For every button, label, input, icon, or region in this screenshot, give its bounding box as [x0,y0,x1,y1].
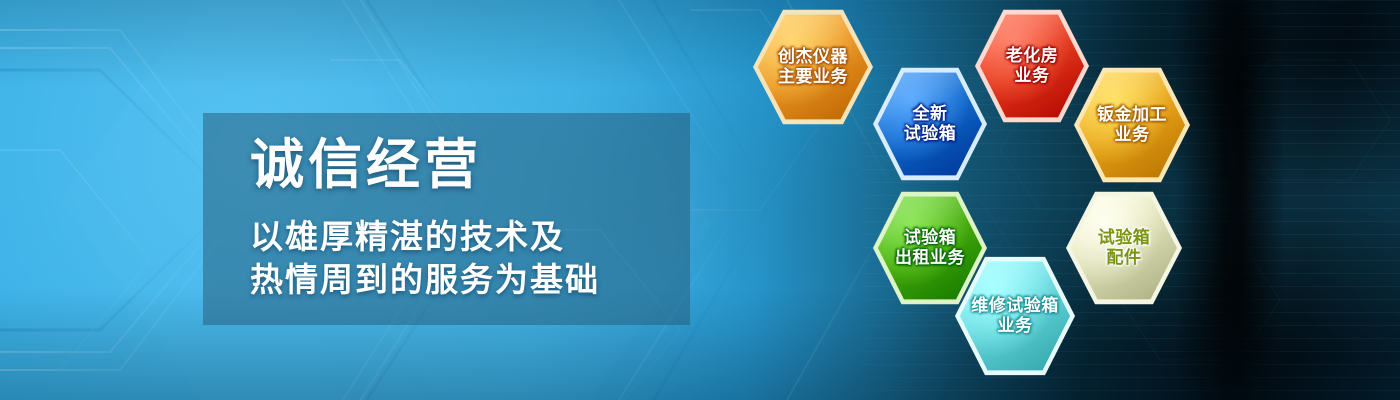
hexagon-label: 维修试验箱 业务 [971,296,1059,336]
page-title: 诚信经营 [250,120,482,199]
hexagon-label: 钣金加工 业务 [1097,105,1167,145]
subtitle-line-1: 以雄厚精湛的技术及 [250,210,565,258]
promo-banner: 诚信经营 以雄厚精湛的技术及 热情周到的服务为基础 创杰仪器 主要业务全新 试验… [0,0,1400,400]
hexagon-label: 试验箱 配件 [1098,228,1151,268]
hexagon-label: 全新 试验箱 [904,104,957,144]
subtitle-line-2: 热情周到的服务为基础 [250,253,600,301]
hexagon-label: 试验箱 出租业务 [895,228,965,268]
hexagon-label: 创杰仪器 主要业务 [778,47,848,87]
hexagon-label: 老化房 业务 [1006,46,1059,86]
